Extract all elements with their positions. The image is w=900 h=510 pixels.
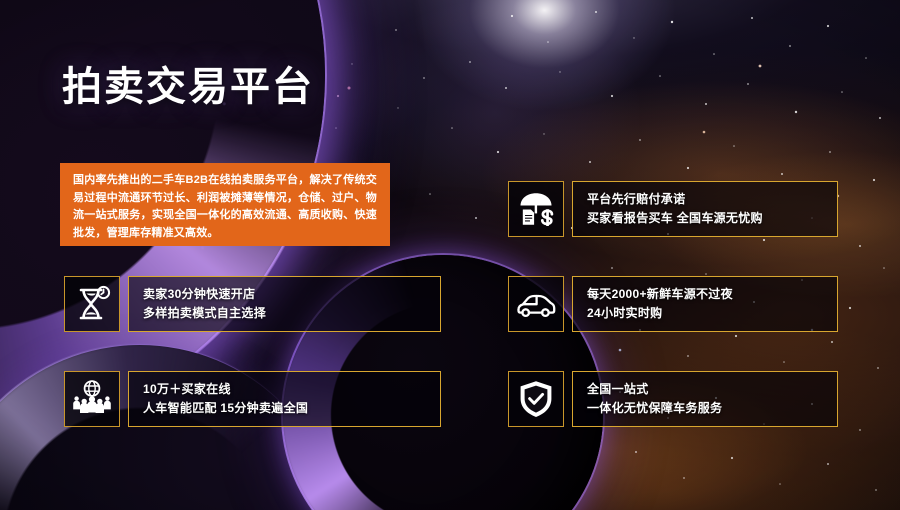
slide-content: 拍卖交易平台 国内率先推出的二手车B2B在线拍卖服务平台，解决了传统交易过程中流… (0, 0, 900, 510)
feature-line-2: 一体化无忧保障车务服务 (587, 399, 837, 418)
intro-paragraph: 国内率先推出的二手车B2B在线拍卖服务平台，解决了传统交易过程中流通环节过长、利… (73, 172, 377, 242)
feature-right-one-stop-service: 全国一站式 一体化无忧保障车务服务 (508, 371, 838, 427)
feature-text-box: 每天2000+新鲜车源不过夜 24小时实时购 (572, 276, 838, 332)
car-icon (508, 276, 564, 332)
auction-platform-slide: 拍卖交易平台 国内率先推出的二手车B2B在线拍卖服务平台，解决了传统交易过程中流… (0, 0, 900, 510)
feature-line-1: 10万＋买家在线 (143, 380, 440, 399)
feature-text-box: 平台先行赔付承诺 买家看报告买车 全国车源无忧购 (572, 181, 838, 237)
feature-line-1: 平台先行赔付承诺 (587, 190, 837, 209)
feature-right-daily-inventory: 每天2000+新鲜车源不过夜 24小时实时购 (508, 276, 838, 332)
page-title: 拍卖交易平台 (62, 54, 314, 112)
feature-text-box: 全国一站式 一体化无忧保障车务服务 (572, 371, 838, 427)
feature-text-box: 10万＋买家在线 人车智能匹配 15分钟卖遍全国 (128, 371, 441, 427)
feature-line-2: 24小时实时购 (587, 304, 837, 323)
feature-line-2: 人车智能匹配 15分钟卖遍全国 (143, 399, 440, 418)
feature-left-buyers-online: 10万＋买家在线 人车智能匹配 15分钟卖遍全国 (64, 371, 441, 427)
feature-line-1: 每天2000+新鲜车源不过夜 (587, 285, 837, 304)
feature-line-2: 多样拍卖模式自主选择 (143, 304, 440, 323)
feature-text-box: 卖家30分钟快速开店 多样拍卖模式自主选择 (128, 276, 441, 332)
intro-highlight-box: 国内率先推出的二手车B2B在线拍卖服务平台，解决了传统交易过程中流通环节过长、利… (60, 163, 390, 246)
feature-line-1: 全国一站式 (587, 380, 837, 399)
hourglass-clock-icon (64, 276, 120, 332)
feature-left-seller-setup: 卖家30分钟快速开店 多样拍卖模式自主选择 (64, 276, 441, 332)
globe-crowd-icon (64, 371, 120, 427)
feature-line-1: 卖家30分钟快速开店 (143, 285, 440, 304)
feature-right-compensation-promise: 平台先行赔付承诺 买家看报告买车 全国车源无忧购 (508, 181, 838, 237)
umbrella-document-dollar-icon (508, 181, 564, 237)
shield-check-icon (508, 371, 564, 427)
feature-line-2: 买家看报告买车 全国车源无忧购 (587, 209, 837, 228)
